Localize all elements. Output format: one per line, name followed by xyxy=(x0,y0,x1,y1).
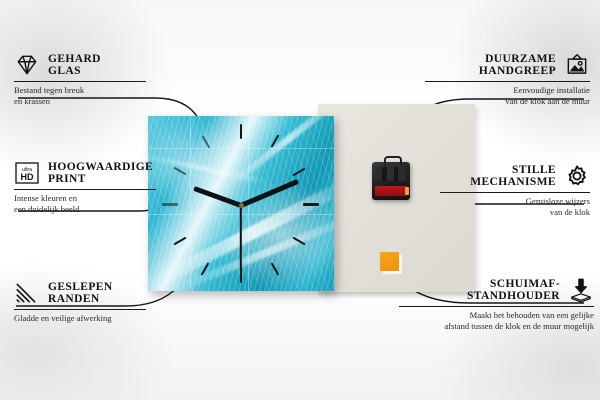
diamond-icon xyxy=(14,52,40,78)
infographic-canvas: GEHARD GLAS Bestand tegen breuk en krass… xyxy=(0,0,600,400)
gear-icon xyxy=(564,163,590,189)
feature-desc: Intense kleuren en een duidelijk beeld xyxy=(14,193,174,214)
feature-desc: Geruisloze wijzers van de klok xyxy=(440,196,590,217)
feature-title: GESLEPEN RANDEN xyxy=(48,281,113,306)
quartz-mechanism xyxy=(372,162,410,200)
feature-desc: Eenvoudige installatie van de klok aan d… xyxy=(425,85,590,106)
feature-desc: Maakt het behouden van een gelijke afsta… xyxy=(399,310,594,331)
tick-12 xyxy=(240,124,242,139)
battery xyxy=(375,186,407,196)
panel-seam xyxy=(148,148,334,149)
hanger-hook-icon xyxy=(384,156,402,166)
feature-rule xyxy=(14,81,146,82)
feature-rule xyxy=(14,309,146,310)
second-hand xyxy=(240,205,242,271)
feature-rule xyxy=(14,189,156,190)
ultra-hd-icon: ultra HD xyxy=(14,160,40,186)
mechanism-housing xyxy=(376,167,406,181)
hands-center-cap xyxy=(239,203,244,208)
feature-desc: Bestand tegen breuk en krassen xyxy=(14,85,164,106)
beveled-edges-icon xyxy=(14,280,40,306)
feature-rule xyxy=(425,81,590,82)
feature-title: STILLE MECHANISME xyxy=(470,164,556,189)
feature-desc: Gladde en veilige afwerking xyxy=(14,313,164,324)
feature-stille-mechanisme[interactable]: STILLE MECHANISME Geruisloze wijzers van… xyxy=(440,163,590,217)
tick-3 xyxy=(303,203,319,206)
wall-clock xyxy=(148,116,334,291)
panel-seam xyxy=(190,116,191,291)
feature-title: SCHUIMAF- STANDHOUDER xyxy=(467,278,560,303)
picture-frame-icon xyxy=(564,52,590,78)
feature-title: DUURZAME HANDGREEP xyxy=(479,53,556,78)
feature-rule xyxy=(399,306,594,307)
feature-duurzame-handgreep[interactable]: DUURZAME HANDGREEP Eenvoudige installati… xyxy=(425,52,590,106)
feature-title: HOOGWAARDIGE PRINT xyxy=(48,161,153,186)
feature-gehard-glas[interactable]: GEHARD GLAS Bestand tegen breuk en krass… xyxy=(14,52,164,106)
foam-spacer-pad xyxy=(380,252,399,271)
feature-rule xyxy=(440,192,590,193)
feature-schuimaf-standhouder[interactable]: SCHUIMAF- STANDHOUDER Maakt het behouden… xyxy=(399,277,594,331)
svg-text:HD: HD xyxy=(21,172,34,182)
feature-hoogwaardige-print[interactable]: ultra HD HOOGWAARDIGE PRINT Intense kleu… xyxy=(14,160,174,214)
foam-spacer-icon xyxy=(568,277,594,303)
feature-title: GEHARD GLAS xyxy=(48,53,101,78)
feature-geslepen-randen[interactable]: GESLEPEN RANDEN Gladde en veilige afwerk… xyxy=(14,280,164,324)
product-photo xyxy=(140,100,475,300)
